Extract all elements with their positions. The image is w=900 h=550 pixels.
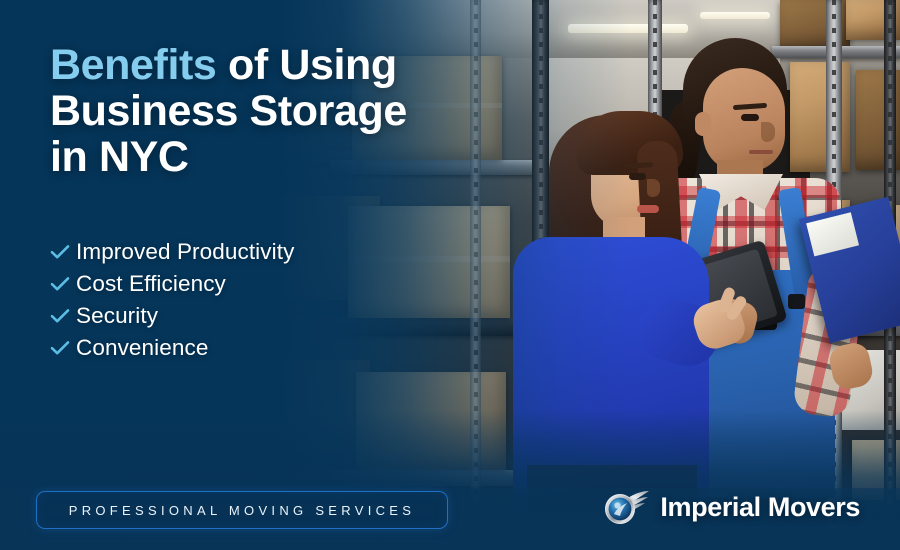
benefit-label: Cost Efficiency [76,271,226,297]
headline-line3: in NYC [50,133,189,181]
page-title: Benefits of Using Business Storage in NY… [50,42,470,180]
benefit-label: Convenience [76,335,208,361]
check-icon [50,308,76,324]
promo-banner: Benefits of Using Business Storage in NY… [0,0,900,550]
check-icon [50,276,76,292]
headline-line2: Business Storage [50,87,407,135]
benefits-list: Improved Productivity Cost Efficiency Se… [50,236,294,364]
brand-name: Imperial Movers [660,492,860,523]
check-icon [50,244,76,260]
list-item: Security [50,300,294,332]
check-icon [50,340,76,356]
benefit-label: Security [76,303,158,329]
list-item: Cost Efficiency [50,268,294,300]
benefit-label: Improved Productivity [76,239,294,265]
list-item: Improved Productivity [50,236,294,268]
banner-content: Benefits of Using Business Storage in NY… [0,0,900,550]
tagline-text: PROFESSIONAL MOVING SERVICES [69,503,416,518]
headline-line1-rest: of Using [216,41,396,89]
list-item: Convenience [50,332,294,364]
brand-logo: Imperial Movers [604,486,860,528]
headline-highlight: Benefits [50,41,216,89]
winged-wheel-emblem-icon [604,486,650,528]
tagline-badge: PROFESSIONAL MOVING SERVICES [36,491,448,529]
